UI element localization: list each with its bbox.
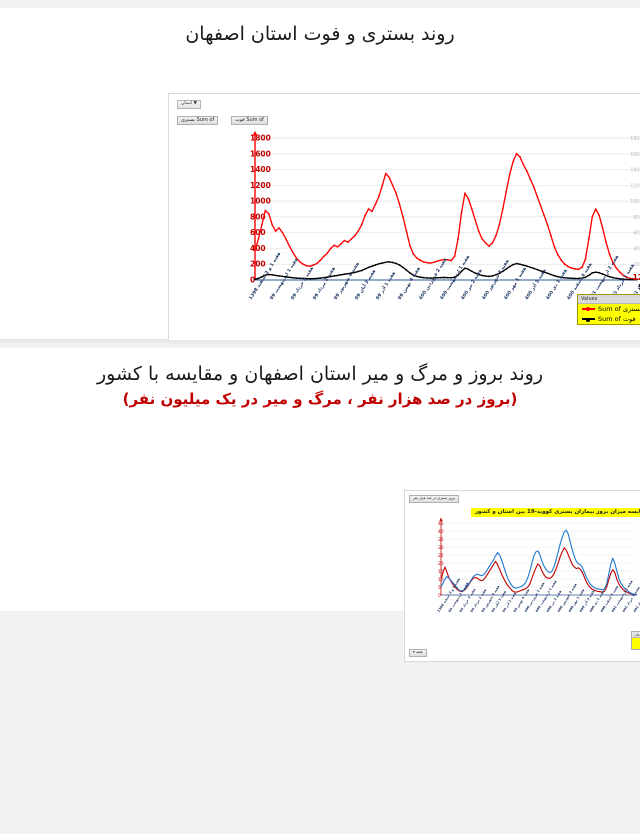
slicer-province-top[interactable]: ▼ استان <box>177 100 201 109</box>
slide-2-subtitle: (بروز در صد هزار نفر ، مرگ و میر در یک م… <box>0 390 640 408</box>
svg-text:600: 600 <box>633 230 640 236</box>
legend-item-hospitalized: Sum of بستری <box>578 304 640 314</box>
svg-text:400: 400 <box>633 246 640 252</box>
svg-text:400: 400 <box>250 244 266 253</box>
svg-text:1400: 1400 <box>630 167 640 173</box>
slide-incidence-mortality: روند بروز و مرگ و میر استان اصفهان و مقا… <box>0 348 640 611</box>
field-button-hospitalized[interactable]: Sum of بستری <box>177 116 218 126</box>
svg-text:1400: 1400 <box>250 165 271 174</box>
field-button-incidence[interactable]: بروز بستری در صد هزار نفر <box>409 495 459 503</box>
legend-label-deaths: Sum of فوت <box>598 315 636 323</box>
svg-text:1800: 1800 <box>630 136 640 142</box>
svg-text:5: 5 <box>438 584 441 590</box>
legend-header: Values <box>578 295 640 304</box>
pivot-chart-incidence[interactable]: بروز بستری در صد هزار نفر مقایسه میزان ب… <box>404 490 640 662</box>
incidence-legend: ▼ استان اصفهان کل کشور <box>631 631 640 651</box>
legend-swatch-black <box>582 318 595 320</box>
svg-text:12: 12 <box>633 273 640 282</box>
week-button-incidence[interactable]: هفته ▾ <box>409 649 427 657</box>
incidence-chart-title: مقایسه میزان بروز بیماران بستری کووید-19… <box>471 508 640 517</box>
top-chart-plot: 0020020040040060060080080010001000120012… <box>169 130 640 300</box>
svg-text:1000: 1000 <box>250 196 271 205</box>
legend-swatch-red <box>582 308 595 310</box>
svg-text:1600: 1600 <box>250 149 271 158</box>
legend-label-hospitalized: Sum of بستری <box>598 305 640 313</box>
svg-text:1200: 1200 <box>250 181 271 190</box>
legend-item-deaths: Sum of فوت <box>578 314 640 324</box>
svg-text:600: 600 <box>250 228 266 237</box>
slide-1-title: روند بستری و فوت استان اصفهان <box>0 8 640 47</box>
svg-text:800: 800 <box>633 215 640 221</box>
svg-text:1000: 1000 <box>630 199 640 205</box>
slide-2-title: روند بروز و مرگ و میر استان اصفهان و مقا… <box>0 348 640 387</box>
top-chart-svg: 0020020040040060060080080010001000120012… <box>169 130 640 300</box>
chevron-down-icon: ▾ <box>413 650 415 654</box>
slide-hospitalization-deaths: روند بستری و فوت استان اصفهان ▼ استان Su… <box>0 8 640 340</box>
slide-separator <box>0 340 640 348</box>
svg-text:0: 0 <box>438 592 441 598</box>
incidence-x-axis-labels: هفته 1 و 2 اسفند 1398هفته 1 اردیبهشت 99ه… <box>405 609 640 651</box>
top-chart-legend: Values Sum of بستری Sum of فوت <box>577 294 640 326</box>
incidence-legend-item-country: کل کشور <box>632 644 640 650</box>
svg-text:200: 200 <box>250 259 266 268</box>
pivot-chart-top[interactable]: ▼ استان Sum of بستری Sum of فوت 00200200… <box>168 93 640 371</box>
filter-icon: ▼ <box>194 101 197 106</box>
svg-text:1600: 1600 <box>630 151 640 157</box>
field-button-deaths[interactable]: Sum of فوت <box>231 116 268 126</box>
svg-text:1200: 1200 <box>630 183 640 189</box>
